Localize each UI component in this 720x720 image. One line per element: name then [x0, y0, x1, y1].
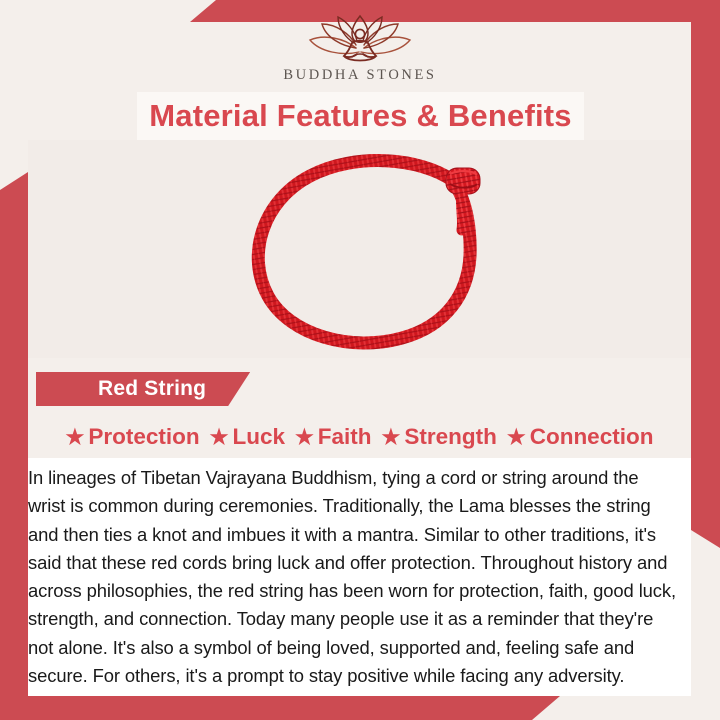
benefit-label: Luck: [232, 424, 285, 450]
title-banner: Material Features & Benefits: [137, 92, 584, 140]
red-string-bracelet-illustration: [224, 144, 504, 356]
benefit-label: Connection: [530, 424, 654, 450]
brand-name: BUDDHA STONES: [283, 67, 436, 84]
decorative-band-bottom: [0, 696, 560, 720]
benefit-label: Protection: [88, 424, 199, 450]
decorative-band-left: [0, 172, 28, 720]
benefit-item-connection: ★ Connection: [507, 424, 654, 450]
benefit-item-strength: ★ Strength: [382, 424, 497, 450]
benefit-item-protection: ★ Protection: [66, 424, 200, 450]
star-icon: ★: [66, 427, 85, 448]
description-panel: In lineages of Tibetan Vajrayana Buddhis…: [28, 458, 691, 696]
product-infographic-page: BUDDHA STONES Material Features & Benefi…: [0, 0, 720, 720]
star-icon: ★: [210, 427, 229, 448]
benefit-item-luck: ★ Luck: [210, 424, 285, 450]
product-image: [28, 140, 691, 358]
benefit-label: Faith: [318, 424, 372, 450]
benefits-list: ★ Protection ★ Luck ★ Faith ★ Strength ★…: [28, 419, 691, 455]
benefit-item-faith: ★ Faith: [295, 424, 372, 450]
star-icon: ★: [507, 427, 526, 448]
brand-header: BUDDHA STONES: [0, 0, 720, 92]
material-tag-label: Red String: [98, 377, 206, 401]
star-icon: ★: [295, 427, 314, 448]
page-title: Material Features & Benefits: [149, 98, 572, 134]
benefit-label: Strength: [404, 424, 497, 450]
star-icon: ★: [382, 427, 401, 448]
material-tag: Red String: [36, 372, 250, 406]
description-paragraph: In lineages of Tibetan Vajrayana Buddhis…: [28, 464, 677, 690]
lotus-meditation-icon: [302, 12, 418, 64]
